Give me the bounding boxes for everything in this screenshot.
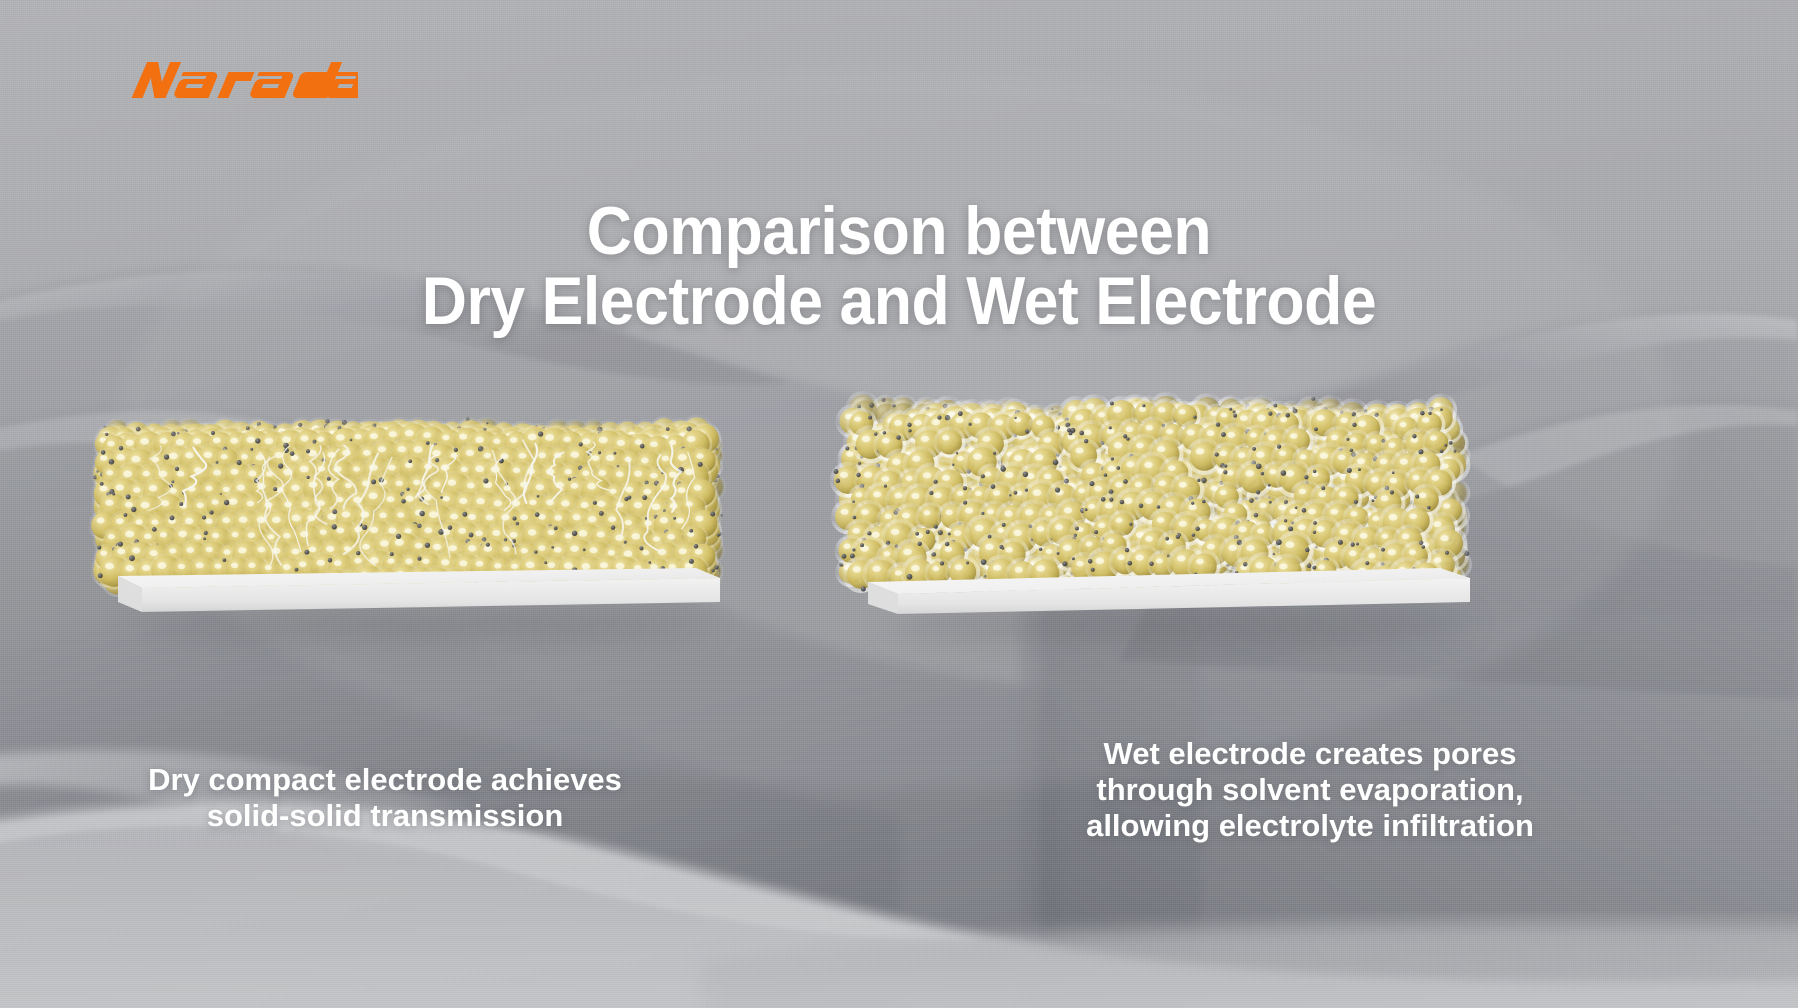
- dry-base-plate: [100, 568, 720, 620]
- narada-logo[interactable]: [126, 58, 358, 102]
- dry-electrode-illustration: [80, 400, 760, 680]
- wet-electrode-caption: Wet electrode creates pores through solv…: [960, 736, 1660, 844]
- wet-base-plate: [858, 562, 1478, 614]
- dry-electrode-caption: Dry compact electrode achieves solid-sol…: [60, 762, 710, 834]
- slide-canvas: Comparison between Dry Electrode and Wet…: [0, 0, 1798, 1008]
- wet-plate-shadow: [890, 612, 1470, 638]
